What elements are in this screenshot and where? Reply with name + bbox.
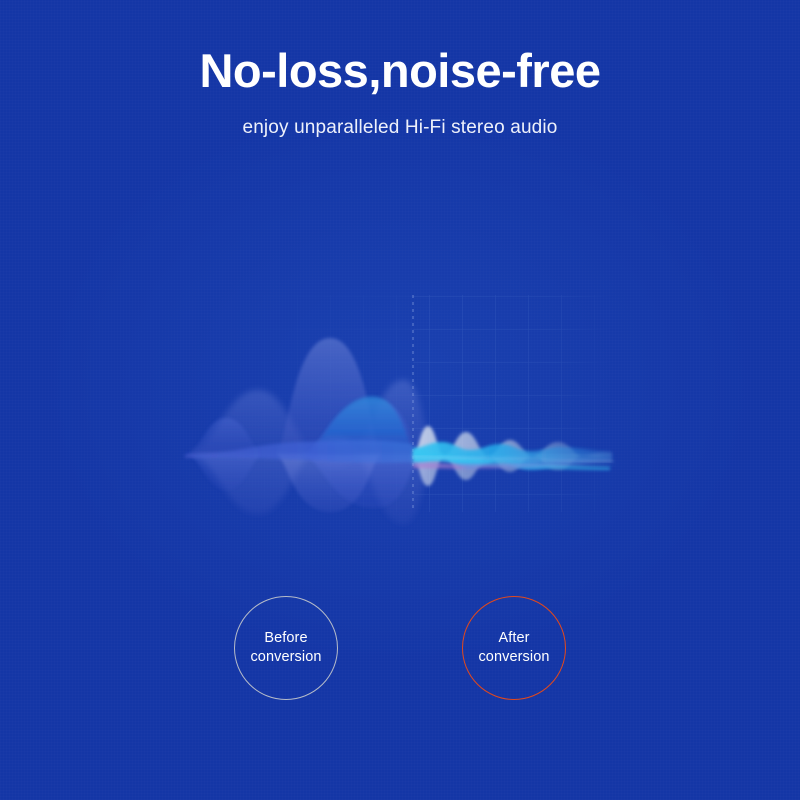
legend-after-label: After conversion (478, 629, 549, 666)
legend-before-label: Before conversion (250, 629, 321, 666)
waveform-visualization (0, 230, 800, 560)
page-root: No-loss,noise-free enjoy unparalleled Hi… (0, 0, 800, 800)
page-subtitle: enjoy unparalleled Hi-Fi stereo audio (0, 117, 800, 139)
legend: Before conversion After conversion (0, 596, 800, 706)
legend-before-conversion[interactable]: Before conversion (234, 596, 338, 700)
waveform-svg (0, 230, 800, 560)
waveform-grid-right (413, 295, 613, 512)
header: No-loss,noise-free enjoy unparalleled Hi… (0, 46, 800, 139)
legend-after-conversion[interactable]: After conversion (462, 596, 566, 700)
page-title: No-loss,noise-free (0, 46, 800, 97)
